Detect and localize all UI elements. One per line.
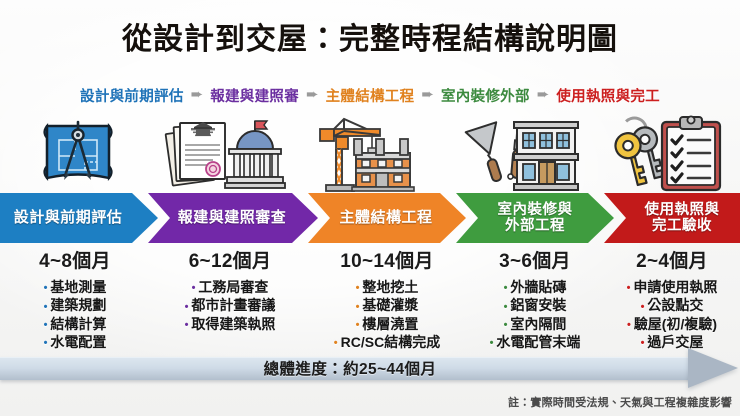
stage-banner-label: 主體結構工程: [339, 210, 432, 225]
list-item: •公設點交: [604, 296, 740, 314]
list-item: •水電配管末端: [456, 333, 614, 351]
task-label: 基地測量: [50, 279, 106, 295]
nav-chip-permit[interactable]: 報建與建照審: [210, 85, 299, 106]
list-item: •外牆貼磚: [456, 278, 614, 296]
task-label: RC/SC結構完成: [341, 334, 441, 350]
stage-duration: 10~14個月: [308, 246, 466, 273]
bullet-dot-icon: •: [185, 301, 189, 313]
nav-arrow-icon: ➨: [306, 87, 319, 102]
bullet-dot-icon: •: [641, 301, 645, 313]
task-label: 室內隔間: [510, 316, 566, 332]
stage-banner-design[interactable]: 設計與前期評估: [0, 193, 158, 243]
stage-nav-strip: 設計與前期評估 ➨ 報建與建照審 ➨ 主體結構工程 ➨ 室內裝修外部 ➨ 使用執…: [0, 84, 740, 106]
stage-column-interior: 3~6個月 •外牆貼磚 •鋁窗安裝 •室內隔間 •水電配管末端: [456, 246, 614, 352]
stage-duration: 4~8個月: [0, 246, 150, 273]
list-item: •室內隔間: [456, 315, 614, 333]
blueprint-compass-icon: [8, 108, 148, 196]
bullet-dot-icon: •: [504, 301, 508, 313]
stage-banner-label-line1: 室內裝修與: [498, 202, 573, 218]
permit-documents-government-icon: [150, 108, 302, 196]
task-label: 鋁窗安裝: [510, 297, 566, 313]
bullet-dot-icon: •: [44, 301, 48, 313]
list-item: •整地挖土: [308, 278, 466, 296]
list-item: •RC/SC結構完成: [308, 333, 466, 351]
task-label: 整地挖土: [362, 279, 418, 295]
tower-crane-building-icon: [300, 108, 450, 196]
stage-task-list: •基地測量 •建築規劃 •結構計算 •水電配置: [0, 278, 150, 352]
stage-duration: 6~12個月: [150, 246, 310, 273]
bullet-dot-icon: •: [44, 282, 48, 294]
list-item: •取得建築執照: [150, 315, 310, 333]
bullet-dot-icon: •: [44, 337, 48, 349]
stage-banner-interior[interactable]: 室內裝修與 外部工程: [456, 193, 614, 243]
stage-banner-label: 報建與建照審查: [178, 210, 287, 225]
list-item: •鋁窗安裝: [456, 296, 614, 314]
list-item: •基地測量: [0, 278, 150, 296]
stage-banner-handover[interactable]: 使用執照與 完工驗收: [604, 193, 740, 243]
page-title: 從設計到交屋：完整時程結構說明圖: [0, 14, 740, 58]
list-item: •都市計畫審議: [150, 296, 310, 314]
stage-task-list: •外牆貼磚 •鋁窗安裝 •室內隔間 •水電配管末端: [456, 278, 614, 352]
task-label: 取得建築執照: [191, 316, 275, 332]
stage-banner-label: 設計與前期評估: [14, 210, 123, 225]
nav-arrow-icon: ➨: [191, 87, 204, 102]
nav-chip-structure[interactable]: 主體結構工程: [326, 85, 415, 106]
task-label: 建築規劃: [50, 297, 106, 313]
stage-task-list: •工務局審查 •都市計畫審議 •取得建築執照: [150, 278, 310, 333]
trowel-paintbrush-house-icon: [450, 108, 592, 196]
stage-banner-label-line1: 使用執照與: [645, 202, 720, 218]
bullet-dot-icon: •: [334, 337, 338, 349]
bullet-dot-icon: •: [356, 282, 360, 294]
bullet-dot-icon: •: [44, 319, 48, 331]
list-item: •樓層澆置: [308, 315, 466, 333]
stage-duration: 3~6個月: [456, 246, 614, 273]
list-item: •建築規劃: [0, 296, 150, 314]
bullet-dot-icon: •: [185, 319, 189, 331]
list-item: •基礎灌漿: [308, 296, 466, 314]
stage-column-handover: 2~4個月 •申請使用執照 •公設點交 •驗屋(初/複驗) •過戶交屋: [604, 246, 740, 352]
list-item: •水電配置: [0, 333, 150, 351]
total-progress-bar: 總體進度：約25~44個月: [0, 353, 740, 387]
stage-banner-row: 設計與前期評估 報建與建照審查 主體結構工程 室內裝修與 外部工程 使用執照與 …: [0, 193, 740, 243]
task-label: 水電配管末端: [496, 334, 580, 350]
nav-arrow-icon: ➨: [537, 87, 550, 102]
bullet-dot-icon: •: [641, 337, 645, 349]
bullet-dot-icon: •: [356, 319, 360, 331]
nav-chip-handover[interactable]: 使用執照與完工: [556, 85, 660, 106]
stage-column-design: 4~8個月 •基地測量 •建築規劃 •結構計算 •水電配置: [0, 246, 150, 352]
task-label: 公設點交: [647, 297, 703, 313]
stage-task-list: •申請使用執照 •公設點交 •驗屋(初/複驗) •過戶交屋: [604, 278, 740, 352]
stage-banner-permit[interactable]: 報建與建照審查: [148, 193, 318, 243]
stage-duration: 2~4個月: [604, 246, 740, 273]
stage-icon-row: [0, 108, 740, 196]
task-label: 外牆貼磚: [510, 279, 566, 295]
list-item: •結構計算: [0, 315, 150, 333]
infographic-canvas: 從設計到交屋：完整時程結構說明圖 設計與前期評估 ➨ 報建與建照審 ➨ 主體結構…: [0, 0, 740, 416]
stage-detail-columns: 4~8個月 •基地測量 •建築規劃 •結構計算 •水電配置 6~12個月 •工務…: [0, 246, 740, 351]
nav-chip-interior[interactable]: 室內裝修外部: [441, 85, 530, 106]
list-item: •工務局審查: [150, 278, 310, 296]
stage-column-permit: 6~12個月 •工務局審查 •都市計畫審議 •取得建築執照: [150, 246, 310, 333]
task-label: 基礎灌漿: [362, 297, 418, 313]
stage-task-list: •整地挖土 •基礎灌漿 •樓層澆置 •RC/SC結構完成: [308, 278, 466, 352]
list-item: •驗屋(初/複驗): [604, 315, 740, 333]
total-progress-label: 總體進度：約25~44個月: [0, 357, 700, 379]
keys-checklist-icon: [592, 108, 736, 196]
task-label: 驗屋(初/複驗): [634, 316, 717, 332]
stage-banner-label-line2: 完工驗收: [652, 218, 712, 234]
bullet-dot-icon: •: [192, 282, 196, 294]
stage-banner-label-line2: 外部工程: [505, 218, 565, 234]
bullet-dot-icon: •: [627, 319, 631, 331]
list-item: •申請使用執照: [604, 278, 740, 296]
bullet-dot-icon: •: [490, 337, 494, 349]
task-label: 工務局審查: [198, 279, 268, 295]
footnote: 註：實際時間受法規、天氣與工程複雜度影響: [508, 394, 732, 410]
nav-arrow-icon: ➨: [421, 87, 434, 102]
task-label: 水電配置: [50, 334, 106, 350]
task-label: 樓層澆置: [362, 316, 418, 332]
task-label: 都市計畫審議: [191, 297, 275, 313]
bullet-dot-icon: •: [356, 301, 360, 313]
bullet-dot-icon: •: [504, 319, 508, 331]
bullet-dot-icon: •: [504, 282, 508, 294]
bullet-dot-icon: •: [627, 282, 631, 294]
task-label: 結構計算: [50, 316, 106, 332]
nav-chip-design[interactable]: 設計與前期評估: [80, 85, 184, 106]
stage-column-structure: 10~14個月 •整地挖土 •基礎灌漿 •樓層澆置 •RC/SC結構完成: [308, 246, 466, 352]
stage-banner-structure[interactable]: 主體結構工程: [308, 193, 466, 243]
task-label: 申請使用執照: [633, 279, 717, 295]
